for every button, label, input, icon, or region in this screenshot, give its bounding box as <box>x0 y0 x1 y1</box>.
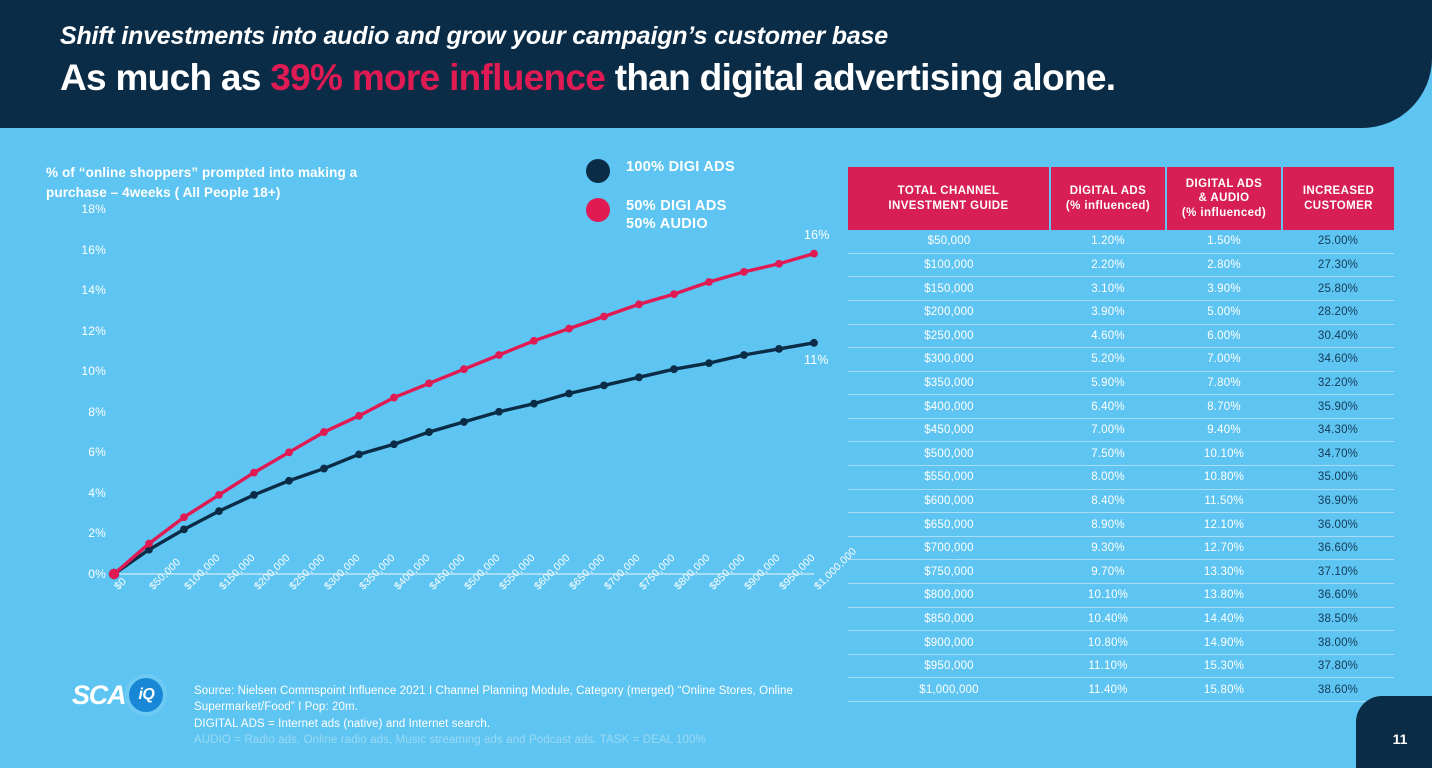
y-axis-tick: 8% <box>62 405 106 419</box>
table-cell: 25.80% <box>1282 277 1394 301</box>
data-point <box>390 440 398 448</box>
data-point <box>495 408 503 416</box>
table-row[interactable]: $700,0009.30%12.70%36.60% <box>848 536 1394 560</box>
data-point <box>390 394 398 402</box>
table-cell: $800,000 <box>848 584 1050 608</box>
data-point <box>180 513 188 521</box>
data-point <box>670 290 678 298</box>
series-end-label: 16% <box>804 228 830 242</box>
table-column-header[interactable]: INCREASED CUSTOMER <box>1282 167 1394 230</box>
data-point <box>425 428 433 436</box>
table-cell: 10.80% <box>1050 631 1166 655</box>
table-cell: 36.90% <box>1282 489 1394 513</box>
table-cell: 10.80% <box>1166 466 1282 490</box>
page-title: As much as 39% more influence than digit… <box>60 57 1412 100</box>
table-cell: $1,000,000 <box>848 678 1050 702</box>
table-row[interactable]: $350,0005.90%7.80%32.20% <box>848 371 1394 395</box>
data-point <box>355 412 363 420</box>
table-cell: 6.40% <box>1050 395 1166 419</box>
legend-label: 100% DIGI ADS <box>626 158 735 176</box>
table-cell: 13.30% <box>1166 560 1282 584</box>
table-row[interactable]: $50,0001.20%1.50%25.00% <box>848 230 1394 253</box>
table-cell: $50,000 <box>848 230 1050 253</box>
table-cell: 8.00% <box>1050 466 1166 490</box>
table-cell: $350,000 <box>848 371 1050 395</box>
data-point <box>250 469 258 477</box>
table-cell: 8.40% <box>1050 489 1166 513</box>
table-row[interactable]: $450,0007.00%9.40%34.30% <box>848 418 1394 442</box>
data-point <box>530 337 538 345</box>
table-row[interactable]: $950,00011.10%15.30%37.80% <box>848 654 1394 678</box>
y-axis: 18%16%14%12%10%8%6%4%2%0% <box>46 209 106 574</box>
y-axis-tick: 0% <box>62 567 106 581</box>
chart-legend: 100% DIGI ADS50% DIGI ADS 50% AUDIO <box>586 158 735 247</box>
y-axis-tick: 2% <box>62 526 106 540</box>
data-point <box>180 525 188 533</box>
table-row[interactable]: $1,000,00011.40%15.80%38.60% <box>848 678 1394 702</box>
data-point <box>565 390 573 398</box>
chart-title: % of “online shoppers” prompted into mak… <box>46 163 406 202</box>
table-cell: 8.90% <box>1050 513 1166 537</box>
series-line-2 <box>114 254 814 574</box>
table-cell: 36.60% <box>1282 536 1394 560</box>
page-number-badge: 11 <box>1356 696 1432 768</box>
table-cell: $250,000 <box>848 324 1050 348</box>
table-cell: $850,000 <box>848 607 1050 631</box>
data-point <box>600 313 608 321</box>
source-note: Source: Nielsen Commspoint Influence 202… <box>194 683 854 748</box>
page-number: 11 <box>1393 731 1408 747</box>
data-point <box>635 373 643 381</box>
data-point <box>215 491 223 499</box>
table-cell: 7.50% <box>1050 442 1166 466</box>
data-point <box>250 491 258 499</box>
table-cell: 3.10% <box>1050 277 1166 301</box>
table-cell: 36.00% <box>1282 513 1394 537</box>
table-cell: $450,000 <box>848 418 1050 442</box>
table-cell: 3.90% <box>1166 277 1282 301</box>
data-point <box>810 250 818 258</box>
table-row[interactable]: $550,0008.00%10.80%35.00% <box>848 466 1394 490</box>
series-line-1 <box>114 343 814 574</box>
y-axis-tick: 18% <box>62 202 106 216</box>
table-row[interactable]: $800,00010.10%13.80%36.60% <box>848 584 1394 608</box>
y-axis-tick: 12% <box>62 324 106 338</box>
table-cell: 11.50% <box>1166 489 1282 513</box>
source-line-3: AUDIO = Radio ads, Online radio ads, Mus… <box>194 732 854 748</box>
data-point <box>320 428 328 436</box>
legend-item[interactable]: 100% DIGI ADS <box>586 158 735 183</box>
table-cell: $750,000 <box>848 560 1050 584</box>
data-point <box>565 325 573 333</box>
table-column-header[interactable]: TOTAL CHANNEL INVESTMENT GUIDE <box>848 167 1050 230</box>
data-point <box>495 351 503 359</box>
table-cell: 5.90% <box>1050 371 1166 395</box>
data-point <box>530 400 538 408</box>
table-row[interactable]: $250,0004.60%6.00%30.40% <box>848 324 1394 348</box>
table-column-header[interactable]: DIGITAL ADS & AUDIO (% influenced) <box>1166 167 1282 230</box>
y-axis-tick: 10% <box>62 364 106 378</box>
table-cell: 34.70% <box>1282 442 1394 466</box>
sca-iq-logo: SCA iQ <box>72 678 163 712</box>
source-line-1: Source: Nielsen Commspoint Influence 202… <box>194 683 854 716</box>
table-cell: 34.30% <box>1282 418 1394 442</box>
table-row[interactable]: $600,0008.40%11.50%36.90% <box>848 489 1394 513</box>
table-cell: 11.10% <box>1050 654 1166 678</box>
table-row[interactable]: $650,0008.90%12.10%36.00% <box>848 513 1394 537</box>
table-cell: 2.80% <box>1166 253 1282 277</box>
table-cell: $950,000 <box>848 654 1050 678</box>
table-cell: 12.70% <box>1166 536 1282 560</box>
table-row[interactable]: $150,0003.10%3.90%25.80% <box>848 277 1394 301</box>
table-cell: 10.10% <box>1050 584 1166 608</box>
table-cell: 15.80% <box>1166 678 1282 702</box>
table-cell: 37.80% <box>1282 654 1394 678</box>
table-cell: 8.70% <box>1166 395 1282 419</box>
table-cell: 14.90% <box>1166 631 1282 655</box>
table-cell: 5.00% <box>1166 300 1282 324</box>
header-kicker: Shift investments into audio and grow yo… <box>60 22 1412 51</box>
table-cell: 10.10% <box>1166 442 1282 466</box>
table-cell: 6.00% <box>1166 324 1282 348</box>
table-cell: 7.00% <box>1166 348 1282 372</box>
data-point <box>600 382 608 390</box>
legend-swatch-icon <box>586 198 610 222</box>
table-cell: 13.80% <box>1166 584 1282 608</box>
investment-table: TOTAL CHANNEL INVESTMENT GUIDEDIGITAL AD… <box>848 167 1394 702</box>
table-cell: $300,000 <box>848 348 1050 372</box>
table-cell: 1.20% <box>1050 230 1166 253</box>
table-cell: 3.90% <box>1050 300 1166 324</box>
table-cell: 37.10% <box>1282 560 1394 584</box>
data-point <box>460 365 468 373</box>
table-cell: 12.10% <box>1166 513 1282 537</box>
data-point <box>425 379 433 387</box>
table-cell: 28.20% <box>1282 300 1394 324</box>
data-point <box>775 345 783 353</box>
table-cell: $100,000 <box>848 253 1050 277</box>
header-banner: Shift investments into audio and grow yo… <box>0 0 1432 128</box>
data-point <box>635 300 643 308</box>
table-cell: 27.30% <box>1282 253 1394 277</box>
data-point <box>285 477 293 485</box>
source-line-2: DIGITAL ADS = Internet ads (native) and … <box>194 716 854 732</box>
data-point <box>320 465 328 473</box>
table-cell: 7.00% <box>1050 418 1166 442</box>
y-axis-tick: 14% <box>62 283 106 297</box>
table-row[interactable]: $400,0006.40%8.70%35.90% <box>848 395 1394 419</box>
table-row[interactable]: $300,0005.20%7.00%34.60% <box>848 348 1394 372</box>
table-row[interactable]: $100,0002.20%2.80%27.30% <box>848 253 1394 277</box>
data-point <box>705 278 713 286</box>
data-point <box>145 540 153 548</box>
table-cell: 1.50% <box>1166 230 1282 253</box>
table-cell: 30.40% <box>1282 324 1394 348</box>
data-point <box>670 365 678 373</box>
table-cell: $150,000 <box>848 277 1050 301</box>
table-cell: 14.40% <box>1166 607 1282 631</box>
table-cell: 9.40% <box>1166 418 1282 442</box>
table-row[interactable]: $900,00010.80%14.90%38.00% <box>848 631 1394 655</box>
logo-badge-icon: iQ <box>129 678 163 712</box>
data-point <box>460 418 468 426</box>
table-cell: 38.00% <box>1282 631 1394 655</box>
table-cell: 10.40% <box>1050 607 1166 631</box>
legend-item[interactable]: 50% DIGI ADS 50% AUDIO <box>586 197 735 233</box>
table-cell: 5.20% <box>1050 348 1166 372</box>
table-row[interactable]: $200,0003.90%5.00%28.20% <box>848 300 1394 324</box>
table-cell: $700,000 <box>848 536 1050 560</box>
headline-pre: As much as <box>60 57 270 98</box>
y-axis-tick: 16% <box>62 243 106 257</box>
table-cell: $550,000 <box>848 466 1050 490</box>
table-cell: 34.60% <box>1282 348 1394 372</box>
data-point <box>705 359 713 367</box>
table-cell: 4.60% <box>1050 324 1166 348</box>
headline-post: than digital advertising alone. <box>605 57 1115 98</box>
table-cell: $650,000 <box>848 513 1050 537</box>
table-cell: $500,000 <box>848 442 1050 466</box>
data-point <box>285 448 293 456</box>
table-cell: 2.20% <box>1050 253 1166 277</box>
table-cell: 9.30% <box>1050 536 1166 560</box>
table-cell: $400,000 <box>848 395 1050 419</box>
chart-svg <box>114 209 814 574</box>
data-point <box>355 450 363 458</box>
table-cell: 32.20% <box>1282 371 1394 395</box>
table-row[interactable]: $850,00010.40%14.40%38.50% <box>848 607 1394 631</box>
table-body: $50,0001.20%1.50%25.00%$100,0002.20%2.80… <box>848 230 1394 701</box>
legend-label: 50% DIGI ADS 50% AUDIO <box>626 197 727 233</box>
table-cell: 35.90% <box>1282 395 1394 419</box>
data-point <box>740 351 748 359</box>
table-cell: 15.30% <box>1166 654 1282 678</box>
data-point <box>775 260 783 268</box>
data-point <box>810 339 818 347</box>
table-cell: 38.50% <box>1282 607 1394 631</box>
data-point <box>215 507 223 515</box>
y-axis-tick: 6% <box>62 445 106 459</box>
table-cell: 11.40% <box>1050 678 1166 702</box>
table-row[interactable]: $750,0009.70%13.30%37.10% <box>848 560 1394 584</box>
y-axis-tick: 4% <box>62 486 106 500</box>
table-cell: 35.00% <box>1282 466 1394 490</box>
headline-highlight: 39% more influence <box>270 57 605 98</box>
legend-swatch-icon <box>586 159 610 183</box>
table-cell: 36.60% <box>1282 584 1394 608</box>
table-cell: 9.70% <box>1050 560 1166 584</box>
table-column-header[interactable]: DIGITAL ADS (% influenced) <box>1050 167 1166 230</box>
table-header-row: TOTAL CHANNEL INVESTMENT GUIDEDIGITAL AD… <box>848 167 1394 230</box>
table-cell: $200,000 <box>848 300 1050 324</box>
data-point <box>740 268 748 276</box>
table-cell: $600,000 <box>848 489 1050 513</box>
series-end-label: 11% <box>804 353 829 367</box>
table-cell: 7.80% <box>1166 371 1282 395</box>
plot-area: $0$50,000$100,000$150,000$200,000$250,00… <box>114 209 814 574</box>
table-cell: 25.00% <box>1282 230 1394 253</box>
logo-text: SCA <box>72 682 125 709</box>
table-row[interactable]: $500,0007.50%10.10%34.70% <box>848 442 1394 466</box>
table-cell: $900,000 <box>848 631 1050 655</box>
